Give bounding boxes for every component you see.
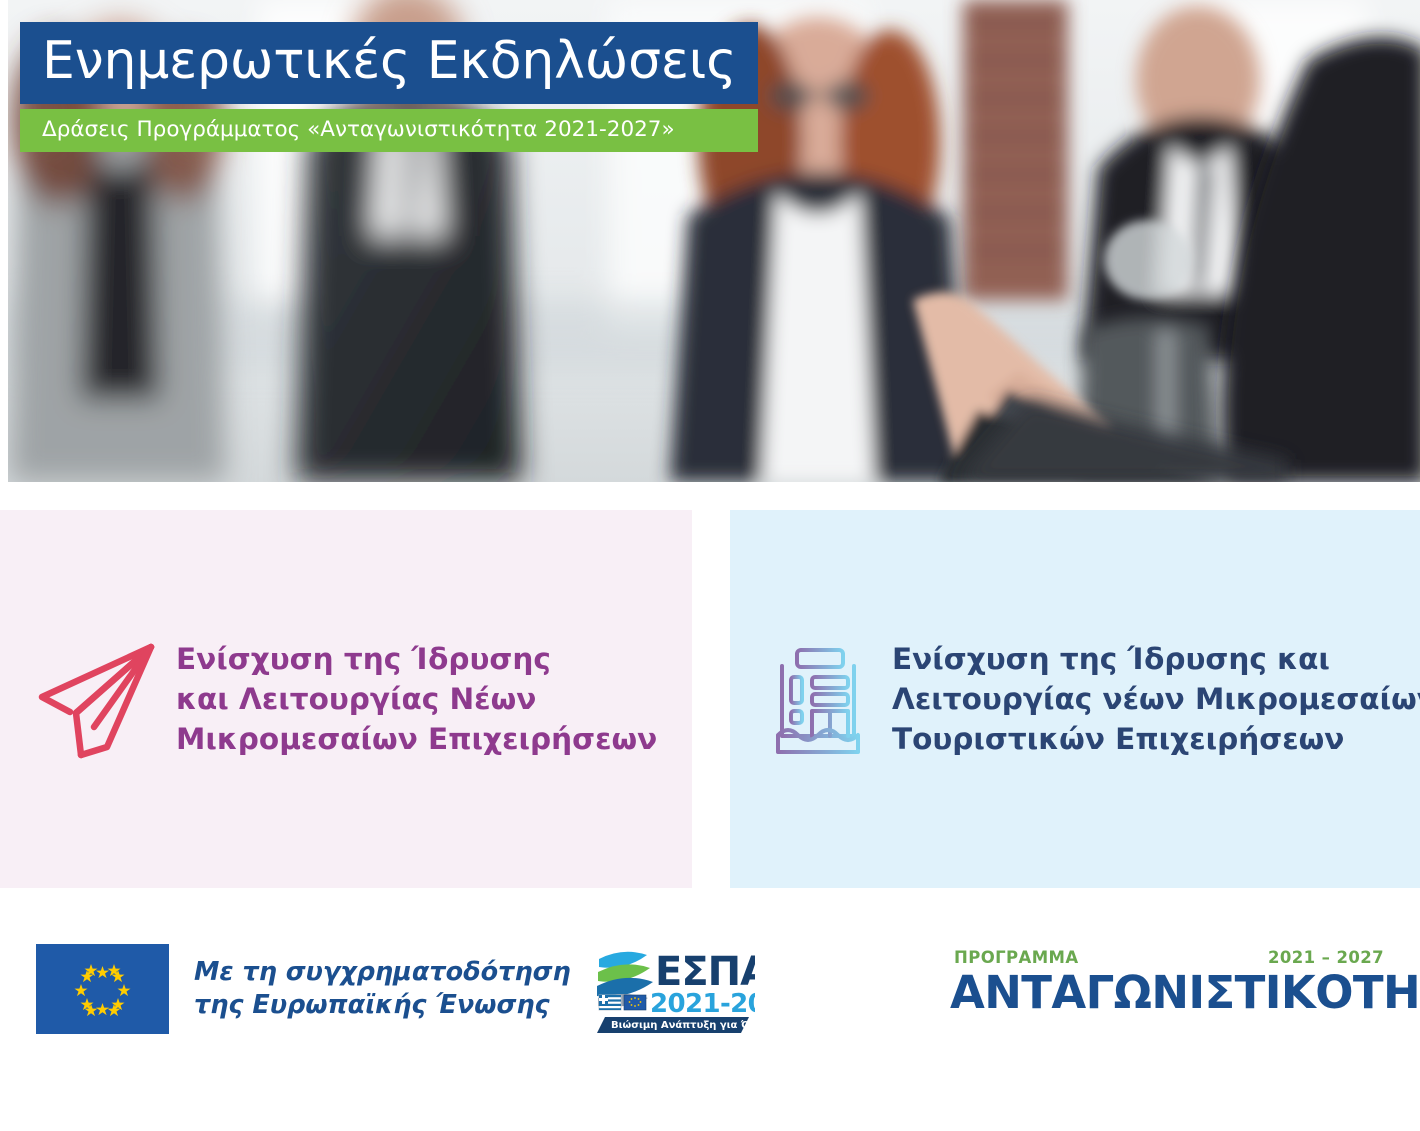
espa-tagline: Βιώσιμη Ανάπτυξη για Όλους bbox=[611, 1019, 755, 1031]
card-text-line: Τουριστικών Επιχειρήσεων bbox=[892, 719, 1420, 759]
card-text-line: Ενίσχυση της Ίδρυσης και bbox=[892, 639, 1420, 679]
programme-name: ΑΝΤΑΓΩΝΙΣΤΙΚΟΤΗΤΑ bbox=[950, 970, 1390, 1016]
banner-title: Ενημερωτικές Εκδηλώσεις bbox=[20, 22, 758, 104]
card-icon-wrap bbox=[768, 641, 892, 757]
card-new-tourism-smes[interactable]: Ενίσχυση της Ίδρυσης και Λειτουργίας νέω… bbox=[730, 510, 1420, 888]
card-text-line: και Λειτουργίας Νέων bbox=[176, 679, 657, 719]
card-text: Ενίσχυση της Ίδρυσης και Λειτουργίας νέω… bbox=[892, 639, 1420, 759]
card-text-line: Μικρομεσαίων Επιχειρήσεων bbox=[176, 719, 657, 759]
hotel-building-icon bbox=[768, 641, 868, 757]
banner-subtitle: Δράσεις Προγράμματος «Ανταγωνιστικότητα … bbox=[20, 109, 758, 152]
hero-banner: Ενημερωτικές Εκδηλώσεις Δράσεις Προγράμμ… bbox=[8, 0, 1420, 482]
eu-flag-icon bbox=[36, 944, 169, 1034]
card-text-line: Ενίσχυση της Ίδρυσης bbox=[176, 639, 657, 679]
card-text: Ενίσχυση της Ίδρυσης και Λειτουργίας Νέω… bbox=[176, 639, 657, 759]
card-text-line: Λειτουργίας νέων Μικρομεσαίων bbox=[892, 679, 1420, 719]
card-new-smes[interactable]: Ενίσχυση της Ίδρυσης και Λειτουργίας Νέω… bbox=[0, 510, 692, 888]
eu-text-line: της Ευρωπαϊκής Ένωσης bbox=[194, 989, 571, 1022]
espa-logo: ΕΣΠΑ 2021-2027 bbox=[597, 943, 755, 1035]
eu-text-line: Με τη συγχρηματοδότηση bbox=[194, 956, 571, 989]
card-icon-wrap bbox=[34, 633, 176, 765]
footer-eu-block: Με τη συγχρηματοδότηση της Ευρωπαϊκής Έν… bbox=[36, 943, 755, 1035]
programme-logo: ΠΡΟΓΡΑΜΜΑ 2021 – 2027 ΑΝΤΑΓΩΝΙΣΤΙΚΟΤΗΤΑ bbox=[950, 948, 1390, 1016]
programme-header-row: ΠΡΟΓΡΑΜΜΑ 2021 – 2027 bbox=[950, 948, 1390, 967]
programme-label: ΠΡΟΓΡΑΜΜΑ bbox=[954, 948, 1079, 967]
programme-years: 2021 – 2027 bbox=[1268, 948, 1384, 967]
banner-block: Ενημερωτικές Εκδηλώσεις Δράσεις Προγράμμ… bbox=[20, 22, 758, 152]
espa-years: 2021-2027 bbox=[650, 989, 755, 1019]
footer: Με τη συγχρηματοδότηση της Ευρωπαϊκής Έν… bbox=[0, 930, 1420, 1060]
eu-cofunding-text: Με τη συγχρηματοδότηση της Ευρωπαϊκής Έν… bbox=[194, 956, 571, 1021]
paper-plane-icon bbox=[34, 633, 166, 765]
action-cards: Ενίσχυση της Ίδρυσης και Λειτουργίας Νέω… bbox=[0, 510, 1420, 888]
